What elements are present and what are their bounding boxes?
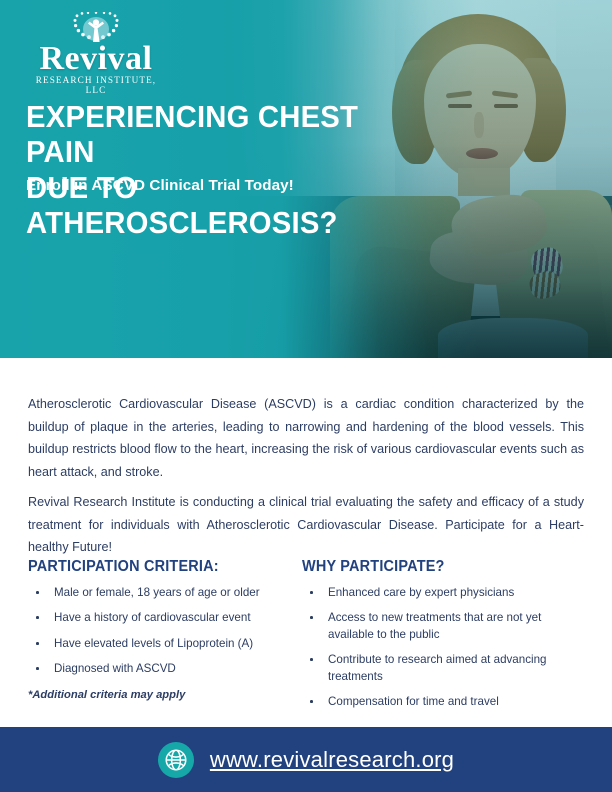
logo-wordmark: Revival [26,43,166,74]
list-item-label: Male or female, 18 years of age or older [54,586,260,599]
list-item-label: Have elevated levels of Lipoprotein (A) [54,637,253,650]
logo-subtitle: RESEARCH INSTITUTE, LLC [26,75,166,95]
bullet-dot [310,658,313,661]
list-item: Diagnosed with ASCVD [28,661,286,677]
participation-criteria-list: Male or female, 18 years of age or older… [28,585,286,678]
list-item-label: Compensation for time and travel [328,695,499,708]
flyer-page: Revival RESEARCH INSTITUTE, LLC EXPERIEN… [0,0,612,792]
headline: EXPERIENCING CHEST PAIN DUE TO ATHEROSCL… [26,100,429,242]
body-section: Atherosclerotic Cardiovascular Disease (… [0,358,612,727]
hero-subheadline: Enroll in ASCVD Clinical Trial Today! [26,177,456,194]
bullet-dot [310,700,313,703]
headline-line-1: EXPERIENCING CHEST PAIN [26,100,429,171]
sunburst-person-icon [69,12,123,42]
bullet-dot [310,616,313,619]
additional-criteria-note: *Additional criteria may apply [28,689,286,701]
list-item: Have elevated levels of Lipoprotein (A) [28,636,286,652]
globe-icon [158,742,194,778]
list-item: Male or female, 18 years of age or older [28,585,286,601]
hero-section: Revival RESEARCH INSTITUTE, LLC EXPERIEN… [0,0,612,358]
logo: Revival RESEARCH INSTITUTE, LLC [26,12,166,78]
why-participate-list: Enhanced care by expert physicians Acces… [302,585,572,711]
bullet-dot [36,591,39,594]
bullet-dot [36,667,39,670]
list-item-label: Contribute to research aimed at advancin… [328,653,546,682]
list-item: Enhanced care by expert physicians [302,585,572,601]
intro-paragraph-2: Revival Research Institute is conducting… [28,491,584,560]
list-item-label: Access to new treatments that are not ye… [328,611,541,640]
list-item-label: Enhanced care by expert physicians [328,586,514,599]
why-participate-column: WHY PARTICIPATE? Enhanced care by expert… [302,558,572,720]
participation-criteria-title: PARTICIPATION CRITERIA: [28,558,271,576]
list-item: Contribute to research aimed at advancin… [302,652,572,685]
list-item-label: Diagnosed with ASCVD [54,662,176,675]
why-participate-title: WHY PARTICIPATE? [302,558,556,576]
participation-criteria-column: PARTICIPATION CRITERIA: Male or female, … [28,558,286,701]
bullet-dot [36,616,39,619]
bullet-dot [36,642,39,645]
website-url-link[interactable]: www.revivalresearch.org [210,747,454,773]
bullet-dot [310,591,313,594]
list-item-label: Have a history of cardiovascular event [54,611,251,624]
intro-paragraph-1: Atherosclerotic Cardiovascular Disease (… [28,393,584,485]
list-item: Access to new treatments that are not ye… [302,610,572,643]
list-item: Compensation for time and travel [302,694,572,710]
list-item: Have a history of cardiovascular event [28,610,286,626]
footer-bar: www.revivalresearch.org [0,727,612,792]
